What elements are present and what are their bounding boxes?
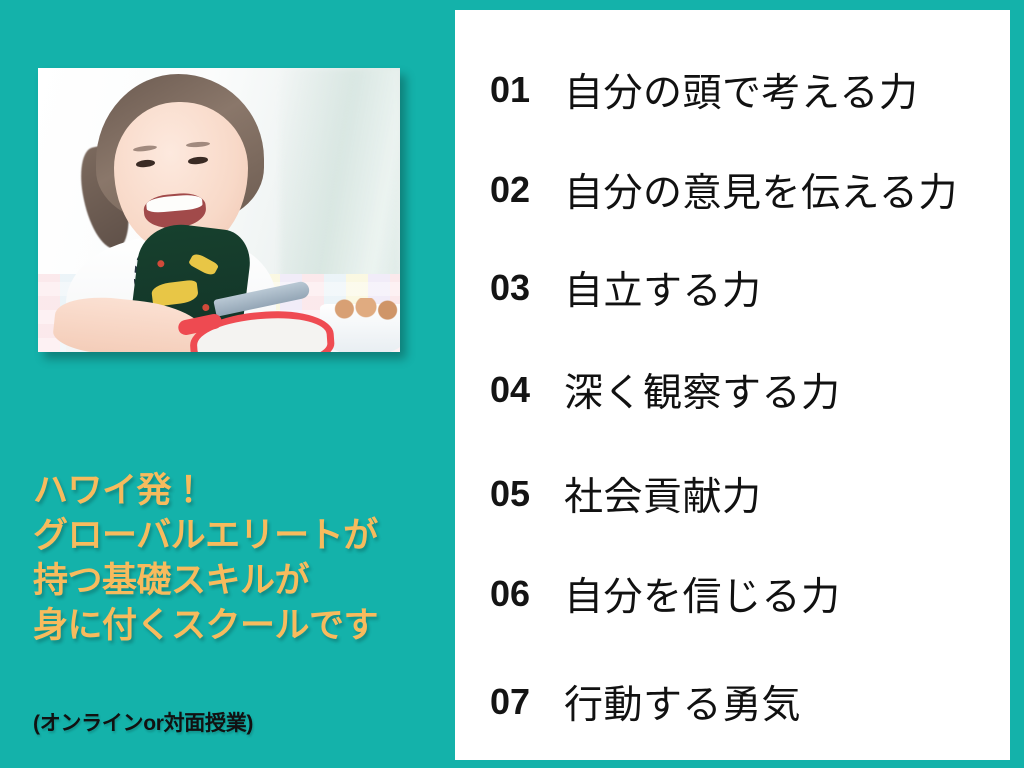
photo-apron-pattern: [157, 260, 165, 268]
list-item-label: 深く観察する力: [564, 362, 1000, 418]
list-item-number: 05: [490, 473, 564, 515]
list-item-label: 行動する勇気: [564, 674, 1000, 730]
list-item: 05 社会貢献力: [490, 462, 1000, 526]
headline-text: ハワイ発！ グローバルエリートが 持つ基礎スキルが 身に付くスクールです: [33, 468, 443, 648]
list-item-label: 自分の頭で考える力: [564, 62, 1000, 118]
slide-root: ハワイ発！ グローバルエリートが 持つ基礎スキルが 身に付くスクールです (オン…: [0, 0, 1024, 768]
photo-apron-pattern: [202, 304, 210, 312]
photo-apron-pattern: [188, 252, 219, 278]
photo-girl-teeth: [146, 194, 203, 214]
skills-panel: 01 自分の頭で考える力 02 自分の意見を伝える力 03 自立する力 04 深…: [455, 10, 1010, 760]
skills-list: 01 自分の頭で考える力 02 自分の意見を伝える力 03 自立する力 04 深…: [455, 10, 1010, 760]
list-item-number: 04: [490, 369, 564, 411]
list-item: 02 自分の意見を伝える力: [490, 158, 1000, 222]
list-item-number: 02: [490, 169, 564, 211]
photo-apron-pattern: [151, 279, 199, 306]
left-column: ハワイ発！ グローバルエリートが 持つ基礎スキルが 身に付くスクールです (オン…: [0, 0, 455, 768]
list-item: 01 自分の頭で考える力: [490, 58, 1000, 122]
list-item: 03 自立する力: [490, 256, 1000, 320]
subnote-text: (オンラインor対面授業): [33, 707, 253, 737]
photo-canvas: [38, 68, 400, 352]
list-item: 07 行動する勇気: [490, 670, 1000, 734]
list-item-number: 07: [490, 681, 564, 723]
list-item-number: 06: [490, 573, 564, 615]
list-item-number: 03: [490, 267, 564, 309]
list-item-label: 自分の意見を伝える力: [564, 162, 1000, 218]
list-item-number: 01: [490, 69, 564, 111]
list-item: 04 深く観察する力: [490, 358, 1000, 422]
list-item: 06 自分を信じる力: [490, 562, 1000, 626]
list-item-label: 社会貢献力: [564, 466, 1000, 522]
photo-food-pieces: [330, 298, 400, 320]
list-item-label: 自分を信じる力: [564, 566, 1000, 622]
smiling-girl-cooking-photo: [38, 68, 400, 352]
list-item-label: 自立する力: [564, 260, 1000, 316]
